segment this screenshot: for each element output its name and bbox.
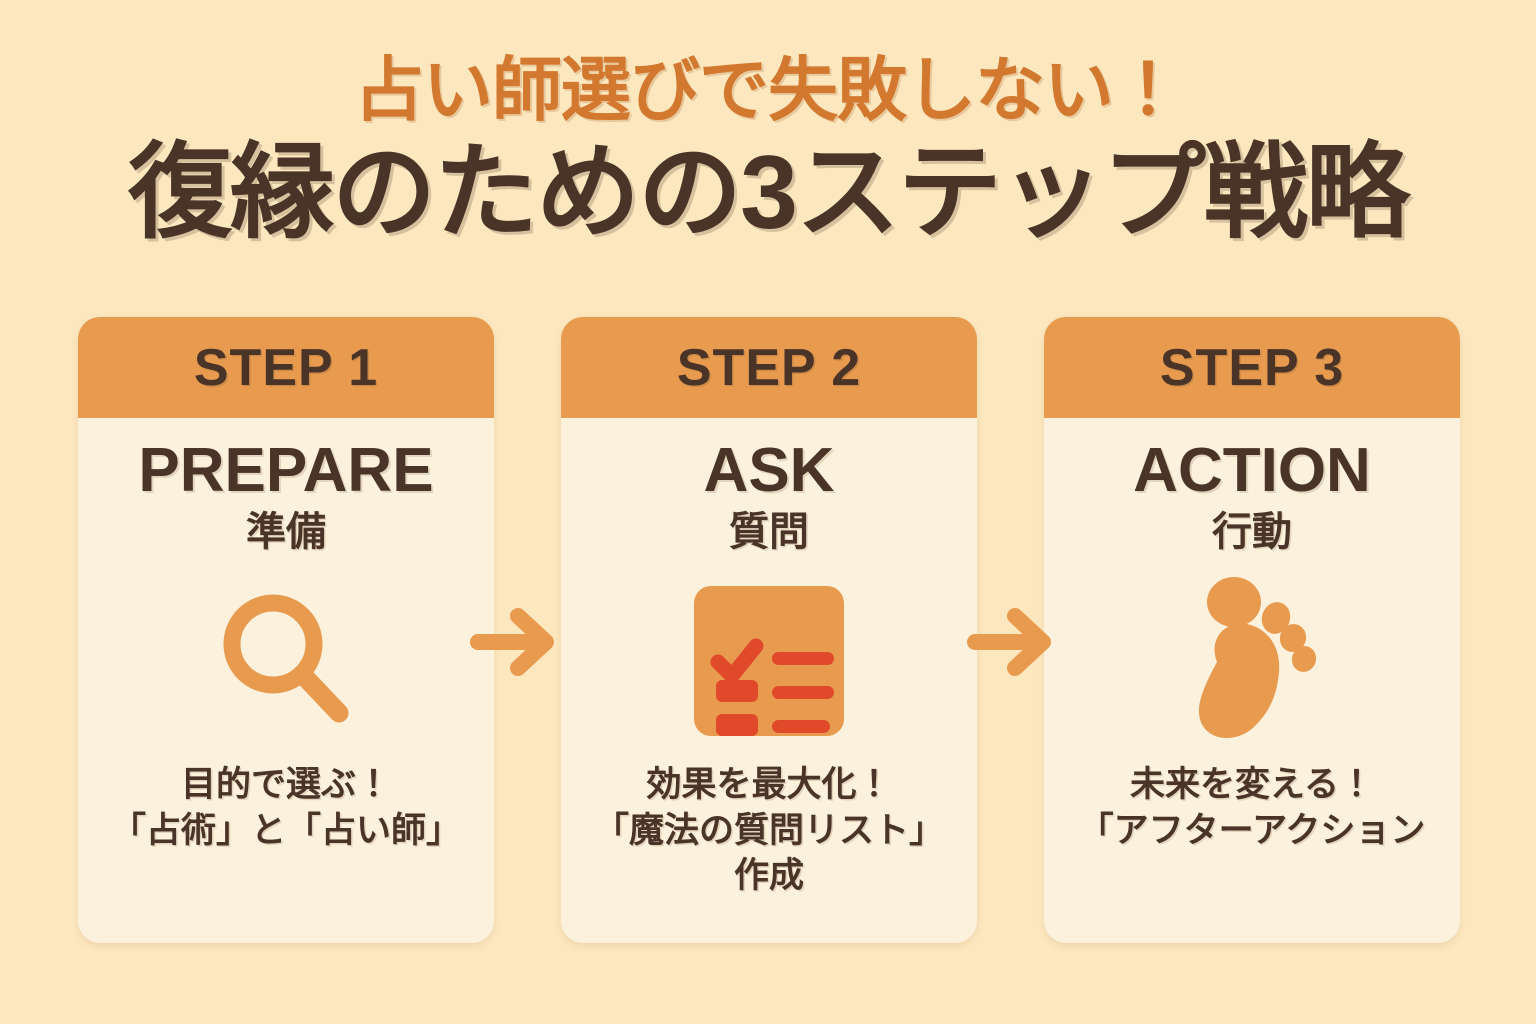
step-card-3[interactable]: STEP 3 ACTION 行動 bbox=[1044, 317, 1460, 943]
headline-block: 占い師選びで失敗しない！ 復縁のための3ステップ戦略 bbox=[0, 54, 1536, 247]
step-card-2[interactable]: STEP 2 ASK 質問 bbox=[561, 317, 977, 943]
step-card-1-step-label: STEP 1 bbox=[194, 338, 378, 398]
step-card-2-caption: 効果を最大化！ 「魔法の質問リスト」 作成 bbox=[594, 762, 944, 899]
step-card-1-caption-line-2: 「占術」と「占い師」 bbox=[111, 808, 461, 854]
step-card-3-body: ACTION 行動 未来を変える！ 「ア bbox=[1044, 418, 1460, 943]
step-card-2-icon-slot bbox=[688, 568, 850, 758]
step-card-3-japanese-word: 行動 bbox=[1212, 510, 1292, 554]
step-card-2-japanese-word: 質問 bbox=[729, 510, 809, 554]
step-card-1-header: STEP 1 bbox=[78, 317, 494, 418]
step-card-2-caption-line-1: 効果を最大化！ bbox=[594, 762, 944, 808]
checklist-icon bbox=[688, 580, 850, 747]
step-card-1-caption: 目的で選ぶ！ 「占術」と「占い師」 bbox=[111, 762, 461, 853]
magnifying-glass-icon bbox=[211, 586, 361, 741]
step-card-3-english-word: ACTION bbox=[1133, 440, 1371, 502]
page-title: 復縁のための3ステップ戦略 bbox=[0, 139, 1536, 247]
step-card-2-step-label: STEP 2 bbox=[677, 338, 861, 398]
step-card-1[interactable]: STEP 1 PREPARE 準備 目的で選ぶ！ 「占術」と「占い師」 bbox=[78, 317, 494, 943]
step-card-1-japanese-word: 準備 bbox=[246, 510, 326, 554]
step-card-1-english-word: PREPARE bbox=[138, 440, 433, 502]
step-card-1-body: PREPARE 準備 目的で選ぶ！ 「占術」と「占い師」 bbox=[78, 418, 494, 943]
step-card-1-icon-slot bbox=[211, 568, 361, 758]
step-card-2-caption-line-3: 作成 bbox=[594, 853, 944, 899]
footprint-icon bbox=[1177, 576, 1327, 751]
step-card-3-header: STEP 3 bbox=[1044, 317, 1460, 418]
step-card-2-header: STEP 2 bbox=[561, 317, 977, 418]
step-card-3-caption-line-2: 「アフターアクション bbox=[1079, 808, 1426, 854]
steps-row: STEP 1 PREPARE 準備 目的で選ぶ！ 「占術」と「占い師」 bbox=[78, 317, 1460, 943]
headline-kicker: 占い師選びで失敗しない！ bbox=[0, 54, 1536, 127]
step-card-3-caption: 未来を変える！ 「アフターアクション bbox=[1079, 762, 1426, 853]
step-card-3-step-label: STEP 3 bbox=[1160, 338, 1344, 398]
step-card-2-body: ASK 質問 bbox=[561, 418, 977, 943]
step-card-2-english-word: ASK bbox=[704, 440, 835, 502]
step-card-1-caption-line-1: 目的で選ぶ！ bbox=[111, 762, 461, 808]
step-card-3-icon-slot bbox=[1177, 568, 1327, 758]
step-card-2-caption-line-2: 「魔法の質問リスト」 bbox=[594, 808, 944, 854]
step-card-3-caption-line-1: 未来を変える！ bbox=[1079, 762, 1426, 808]
infographic-canvas: 占い師選びで失敗しない！ 復縁のための3ステップ戦略 STEP 1 PREPAR… bbox=[0, 0, 1536, 1024]
